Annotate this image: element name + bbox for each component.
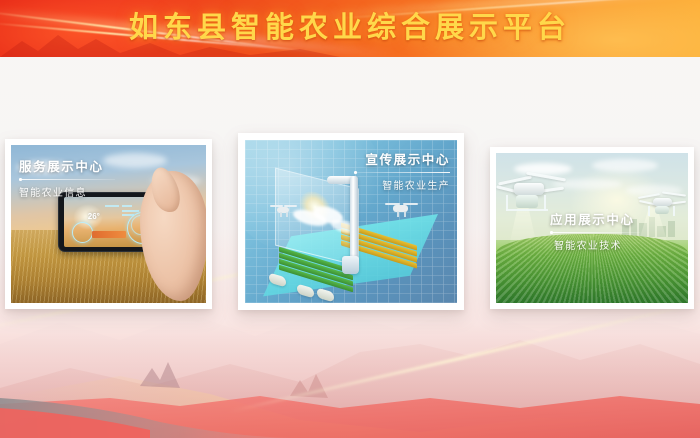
card-subtitle: 智能农业生产 [354, 177, 450, 192]
header-banner: 如东县智能农业综合展示平台 [0, 0, 700, 57]
hud-data-chip [92, 231, 126, 238]
drone-spray-tank [655, 206, 669, 214]
card-service-center[interactable]: 26° 服务展示中心 智能农业信息 [5, 139, 212, 309]
drone-leg [286, 212, 288, 217]
drone-leg [673, 206, 675, 216]
hud-ring-left-icon [72, 222, 93, 243]
building [668, 221, 675, 237]
drone-rotor [385, 203, 400, 205]
drone-rotor [284, 205, 297, 207]
drone-leg [404, 211, 406, 217]
drone-rotor [403, 203, 418, 205]
card-application-center[interactable]: 应用展示中心 智能农业技术 [490, 147, 694, 309]
hud-bar [122, 205, 132, 207]
app-stage: 如东县智能农业综合展示平台 26° [0, 0, 700, 438]
drone-leg [506, 209, 548, 211]
card-divider [550, 232, 640, 233]
card-promotion-center-copy: 宣传展示中心 智能农业生产 [354, 149, 450, 192]
divider-dot [19, 178, 22, 181]
cloud-shape [592, 159, 658, 172]
drone-leg [397, 211, 399, 217]
hud-bar [105, 205, 119, 207]
temperature-readout: 26° [88, 212, 100, 221]
drone-body [653, 198, 672, 206]
drone-leg [280, 212, 282, 217]
drone-icon-right [385, 200, 419, 218]
card-title: 服务展示中心 [19, 156, 115, 175]
card-subtitle: 智能农业技术 [554, 237, 640, 252]
card-promotion-center[interactable]: 宣传展示中心 智能农业生产 [238, 133, 464, 310]
drone-leg [648, 206, 650, 216]
drone-rotor [662, 191, 686, 196]
card-divider [354, 172, 450, 173]
hud-bar [122, 210, 139, 212]
drone-spray-tank [516, 195, 538, 208]
card-application-center-copy: 应用展示中心 智能农业技术 [550, 209, 640, 252]
page-title: 如东县智能农业综合展示平台 [0, 5, 700, 52]
card-service-center-copy: 服务展示中心 智能农业信息 [19, 156, 115, 199]
card-divider [19, 179, 115, 180]
drone-icon-small [636, 191, 688, 219]
card-title: 宣传展示中心 [354, 149, 450, 168]
card-title: 应用展示中心 [550, 209, 640, 228]
drone-body [514, 183, 544, 195]
card-subtitle: 智能农业信息 [19, 184, 115, 199]
drone-rotor [526, 172, 566, 182]
divider-dot [550, 231, 553, 234]
drone-icon-left [269, 202, 297, 218]
water-tank [342, 256, 359, 274]
divider-dot [354, 171, 357, 174]
drone-rotor [270, 205, 283, 207]
drone-body [393, 205, 408, 212]
